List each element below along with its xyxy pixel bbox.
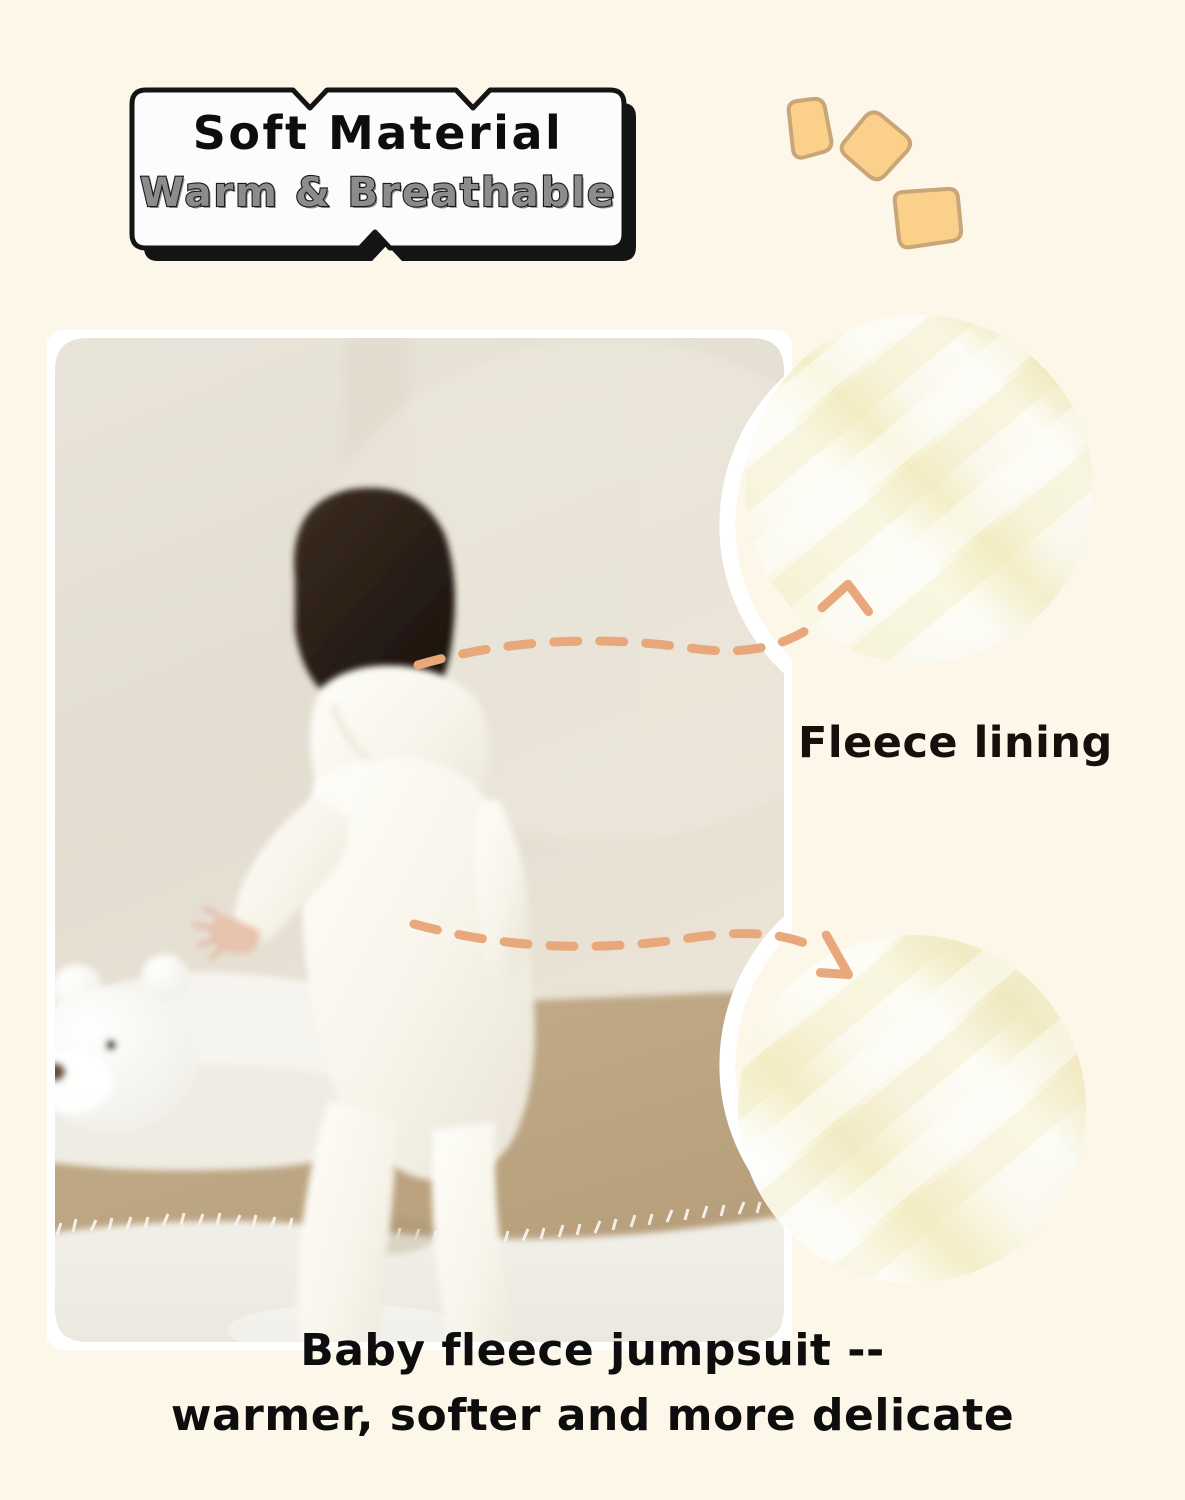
confetti-shape-3 (895, 189, 961, 247)
fleece-texture-bottom (738, 935, 1086, 1283)
fleece-swatch-bottom (738, 935, 1086, 1283)
fleece-swatch-top (745, 315, 1093, 663)
header-badge: Soft Material Warm & Breathable (118, 82, 638, 257)
confetti-decoration (775, 95, 975, 265)
product-photo-image (47, 330, 792, 1350)
confetti-shape-2 (842, 112, 910, 179)
fleece-texture-top (745, 315, 1093, 663)
caption-line-1: Baby fleece jumpsuit -- (0, 1318, 1185, 1383)
confetti-shape-1 (789, 99, 832, 158)
product-photo (47, 330, 792, 1350)
caption-line-2: warmer, softer and more delicate (0, 1383, 1185, 1448)
header-title: Soft Material (118, 106, 638, 160)
header-subtitle: Warm & Breathable (118, 170, 638, 216)
product-caption: Baby fleece jumpsuit -- warmer, softer a… (0, 1318, 1185, 1448)
fleece-lining-label: Fleece lining (798, 718, 1113, 768)
